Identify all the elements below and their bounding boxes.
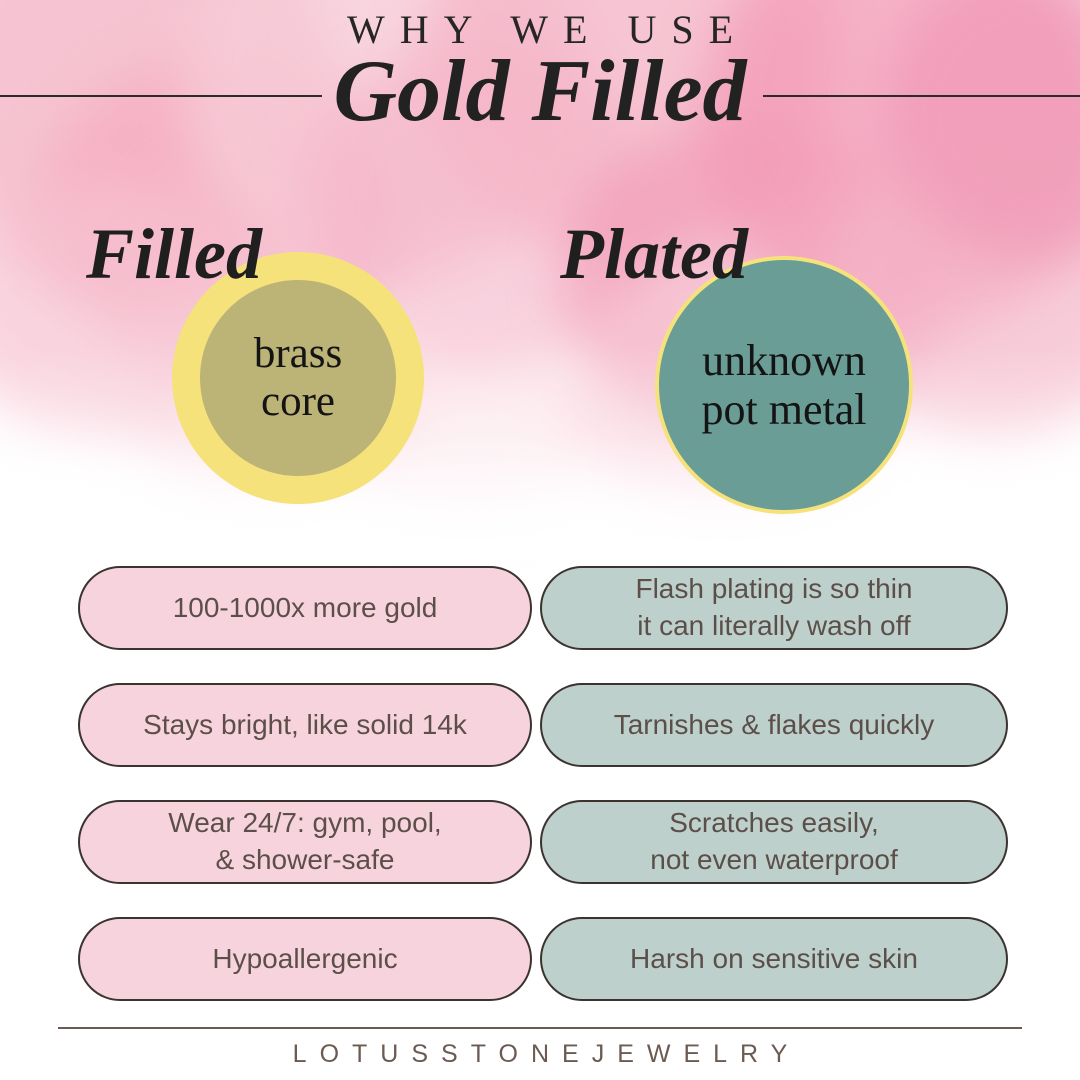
- pill-plated-4: Harsh on sensitive skin: [540, 917, 1008, 1001]
- circle-plated-label: unknown pot metal: [702, 336, 867, 435]
- pill-plated-2: Tarnishes & flakes quickly: [540, 683, 1008, 767]
- circle-brass-core-label: brass core: [254, 330, 342, 426]
- circle-brass-core: brass core: [200, 280, 396, 476]
- pill-plated-3: Scratches easily, not even waterproof: [540, 800, 1008, 884]
- footer-divider: [58, 1027, 1022, 1029]
- header-rule-right: [763, 95, 1080, 97]
- pill-filled-2: Stays bright, like solid 14k: [78, 683, 532, 767]
- column-label-filled: Filled: [86, 218, 262, 290]
- pill-filled-1: 100-1000x more gold: [78, 566, 532, 650]
- circle-gold-plated: unknown pot metal: [655, 256, 913, 514]
- pill-plated-1: Flash plating is so thin it can literall…: [540, 566, 1008, 650]
- header-rule-left: [0, 95, 322, 97]
- footer-brand: LOTUSSTONEJEWELRY: [0, 1040, 1080, 1069]
- infographic-canvas: WHY WE USE Gold Filled Filled brass core…: [0, 0, 1080, 1080]
- page-title: Gold Filled: [0, 48, 1080, 136]
- comparison-row: Hypoallergenic Harsh on sensitive skin: [0, 917, 1080, 1001]
- column-label-plated: Plated: [560, 218, 748, 290]
- comparison-row: Wear 24/7: gym, pool, & shower-safe Scra…: [0, 800, 1080, 884]
- comparison-grid: 100-1000x more gold Flash plating is so …: [0, 566, 1080, 1034]
- pill-filled-3: Wear 24/7: gym, pool, & shower-safe: [78, 800, 532, 884]
- comparison-row: Stays bright, like solid 14k Tarnishes &…: [0, 683, 1080, 767]
- comparison-row: 100-1000x more gold Flash plating is so …: [0, 566, 1080, 650]
- pill-filled-4: Hypoallergenic: [78, 917, 532, 1001]
